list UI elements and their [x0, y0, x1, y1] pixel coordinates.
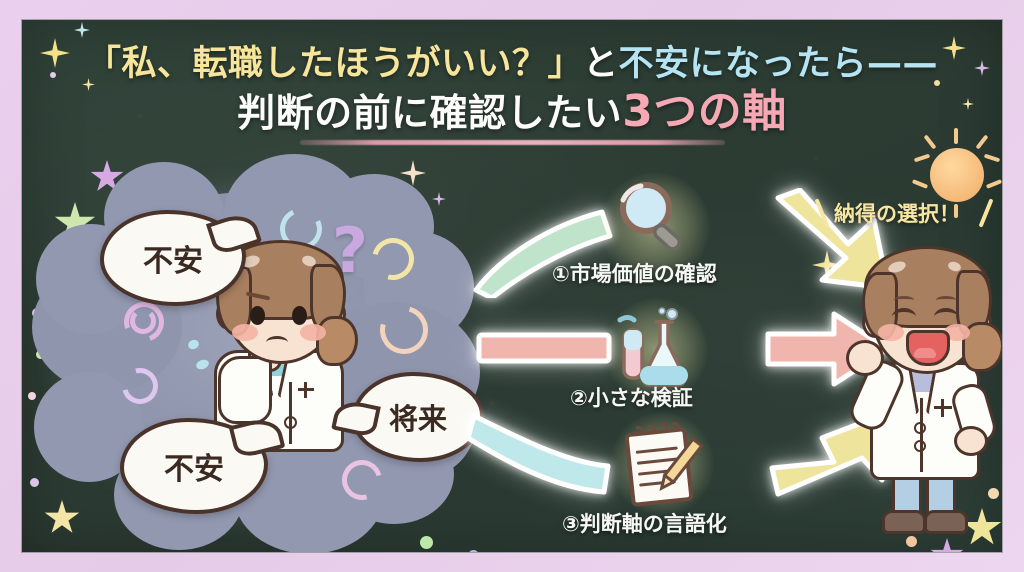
doctor-eyebrow [894, 296, 914, 304]
coat-button [284, 416, 297, 429]
dot-decor [420, 536, 433, 549]
happy-doctor-character [830, 234, 1002, 534]
dot-decor [468, 550, 479, 552]
doctor-cheek [878, 324, 904, 341]
title-anxious: 不安になったら—— [619, 44, 939, 84]
doctor-eyebrow [936, 296, 956, 304]
sun-ray [986, 179, 1002, 189]
coat-pocket-cross [304, 382, 307, 398]
sun-ray [912, 179, 928, 189]
sun-ray [914, 154, 930, 163]
doctor-arm [218, 356, 272, 424]
doctor-mouth [266, 336, 288, 349]
doctor-shoe [924, 510, 968, 534]
coat-button [914, 422, 926, 434]
dot-decor [906, 536, 917, 547]
coat-pocket-cross [941, 399, 944, 417]
title-check-before: 判断の前に確認したい [237, 91, 622, 135]
arrow-left-step3 [468, 408, 620, 496]
doctor-tongue [914, 348, 936, 358]
magnifier-icon [614, 178, 696, 260]
sparkle-icon [988, 538, 1002, 552]
chalkboard: 「私、転職したほうがいい？」と不安になったら—— 判断の前に確認したい3つの軸 [22, 20, 1002, 552]
step-2-label: ②小さな検証 [570, 382, 693, 412]
dot-decor [28, 392, 36, 400]
doctor-eye [292, 306, 307, 325]
notepad-icon [620, 418, 708, 510]
star-icon [44, 500, 80, 536]
sparkle-icon [432, 192, 446, 206]
title-quote: 「私、転職したほうがいい？」 [86, 44, 583, 84]
title-line-2: 判断の前に確認したい3つの軸 [22, 88, 1002, 137]
sparkle-icon [74, 22, 90, 38]
title-line-1: 「私、転職したほうがいい？」と不安になったら—— [22, 42, 1002, 86]
kudos-slash-right [979, 198, 994, 227]
infographic-canvas: 「私、転職したほうがいい？」と不安になったら—— 判断の前に確認したい3つの軸 [0, 0, 1024, 572]
doctor-shoe [882, 510, 926, 534]
title-underline [300, 140, 725, 145]
doctor-eye [250, 306, 265, 325]
coat-center-line [289, 382, 292, 444]
dot-decor [30, 478, 39, 487]
title-to: と [583, 44, 619, 84]
doctor-hand-hip [954, 426, 988, 456]
doctor-cheek [300, 324, 326, 341]
coat-center-line [920, 398, 923, 472]
coat-button [914, 440, 926, 452]
title-block: 「私、転職したほうがいい？」と不安になったら—— 判断の前に確認したい3つの軸 [22, 42, 1002, 145]
bubble-text: 将来 [389, 396, 447, 438]
bubble-text: 不安 [143, 236, 203, 280]
step-3-label: ③判断軸の言語化 [562, 508, 727, 538]
spiral-decor [130, 308, 156, 334]
doctor-eye-closed [892, 308, 916, 326]
sun-icon [930, 148, 984, 202]
arrow-left-step2 [474, 330, 614, 366]
title-three-axes: 3つの軸 [622, 86, 787, 137]
sweat-drop [195, 358, 210, 371]
kudos-caption: 納得の選択！ [834, 198, 960, 228]
star-icon [930, 538, 964, 552]
doctor-cheek [232, 324, 258, 341]
step-1-label: ①市場価値の確認 [552, 258, 717, 288]
flask-icon [616, 306, 702, 392]
doctor-ponytail [316, 316, 358, 366]
bubble-text: 不安 [164, 444, 224, 488]
sun-ray [984, 154, 1000, 163]
